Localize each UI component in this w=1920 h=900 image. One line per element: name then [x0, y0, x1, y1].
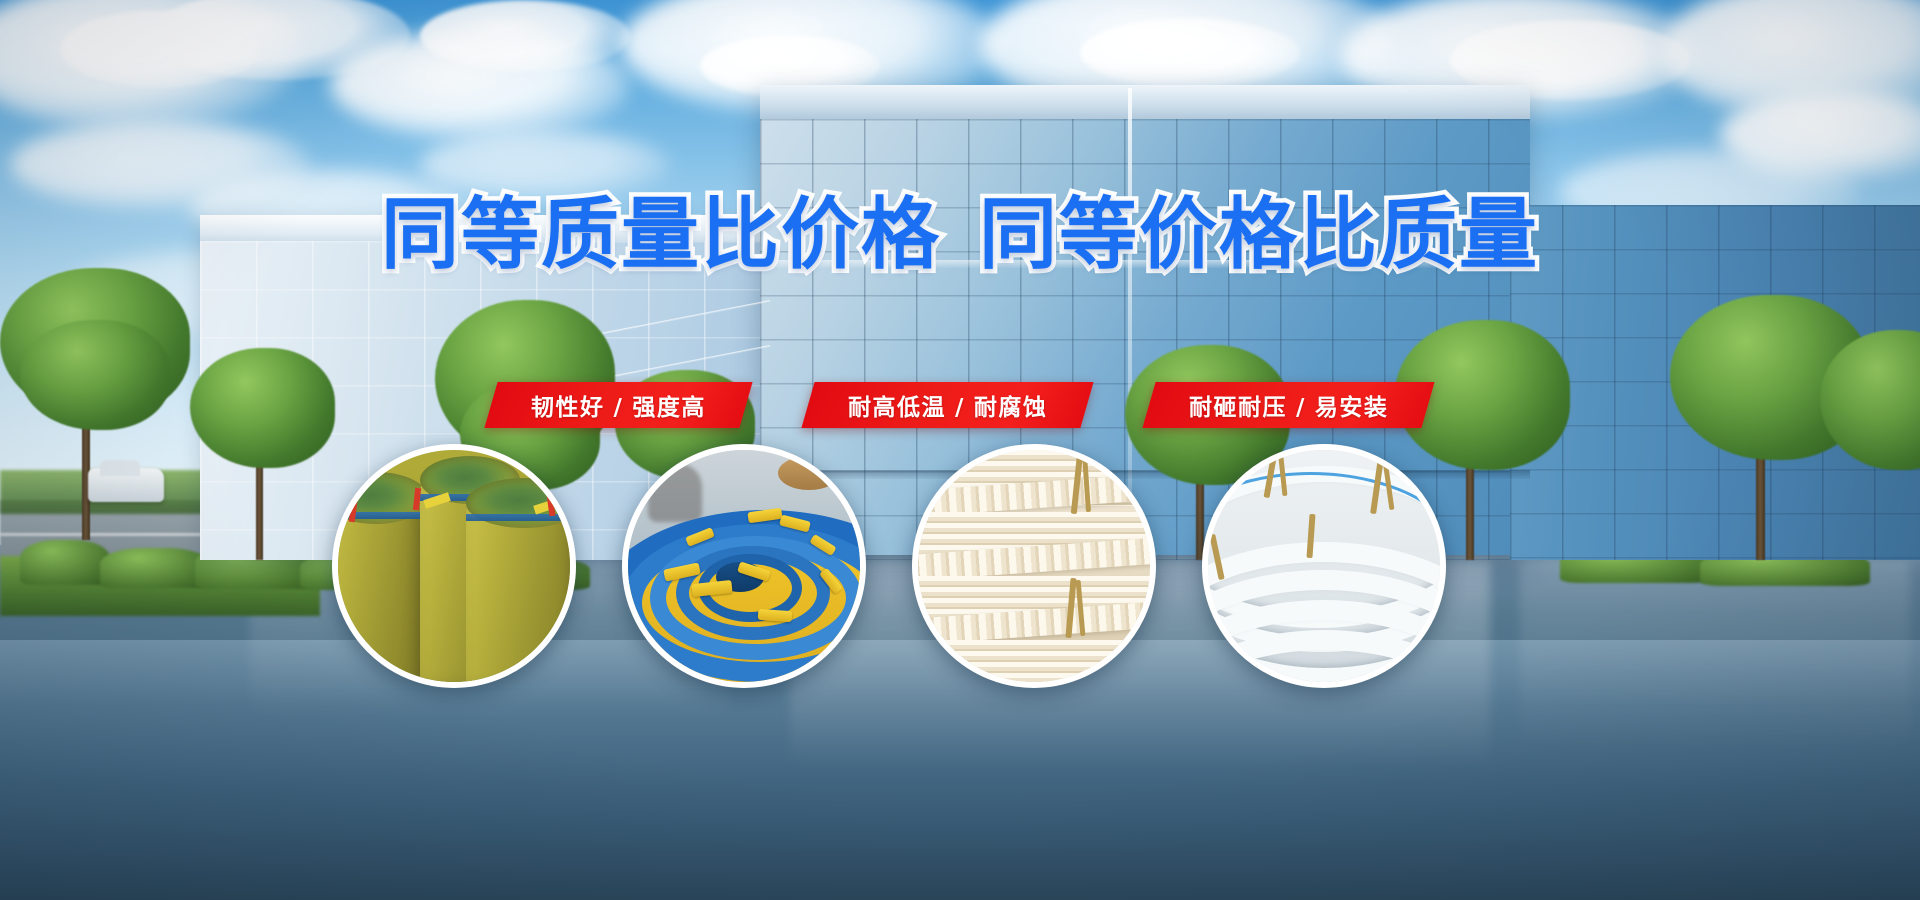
feature-tag-1-right: 强度高 — [633, 395, 707, 421]
worker-silhouette — [648, 464, 702, 522]
hose-roll — [466, 502, 576, 688]
headline-part-1: 同等质量比价格 — [381, 190, 941, 280]
pvc-pipe-stack — [912, 640, 1156, 688]
product-circle-pvc-pipes[interactable] — [912, 444, 1156, 688]
hose-roll — [332, 498, 428, 688]
product-circle-layflat-coil[interactable] — [622, 444, 866, 688]
feature-tag-1[interactable]: 韧性好/强度高 — [485, 382, 753, 428]
feature-tag-3-left: 耐砸耐压 — [1189, 395, 1287, 421]
feature-tag-1-label: 韧性好/强度高 — [531, 388, 706, 422]
main-building-roof-band — [760, 85, 1530, 119]
feature-tag-1-left: 韧性好 — [531, 395, 605, 421]
feature-tag-list: 韧性好/强度高 耐高低温/耐腐蚀 耐砸耐压/易安装 — [0, 382, 1920, 428]
feature-tag-2-separator: / — [955, 395, 965, 421]
feature-tag-2[interactable]: 耐高低温/耐腐蚀 — [801, 382, 1094, 428]
product-image-pvc-pipes — [918, 450, 1150, 682]
product-image-pe-pipe-coil — [1208, 450, 1440, 682]
feature-tag-2-right: 耐腐蚀 — [974, 395, 1048, 421]
headline-part-2: 同等价格比质量 — [979, 190, 1539, 280]
feature-tag-2-left: 耐高低温 — [848, 395, 946, 421]
feature-tag-3-separator: / — [1296, 395, 1306, 421]
hose-roll-band — [332, 512, 428, 519]
product-circle-olive-hose-rolls[interactable] — [332, 444, 576, 688]
product-circle-pe-pipe-coil[interactable] — [1202, 444, 1446, 688]
cardboard-spool — [778, 456, 840, 490]
feature-tag-2-label: 耐高低温/耐腐蚀 — [848, 388, 1047, 422]
hose-roll-band — [466, 514, 576, 521]
page-title: 同等质量比价格同等价格比质量 — [0, 196, 1920, 274]
product-circle-list — [0, 432, 1920, 692]
product-image-olive-hose-rolls — [338, 450, 570, 682]
product-image-layflat-coil — [628, 450, 860, 682]
promo-banner: 同等质量比价格同等价格比质量 韧性好/强度高 耐高低温/耐腐蚀 耐砸耐压/易安装 — [0, 0, 1920, 900]
feature-tag-1-separator: / — [614, 395, 624, 421]
feature-tag-3[interactable]: 耐砸耐压/易安装 — [1143, 382, 1436, 428]
feature-tag-3-label: 耐砸耐压/易安装 — [1189, 388, 1388, 422]
yellow-clip — [758, 609, 793, 622]
feature-tag-3-right: 易安装 — [1315, 395, 1389, 421]
